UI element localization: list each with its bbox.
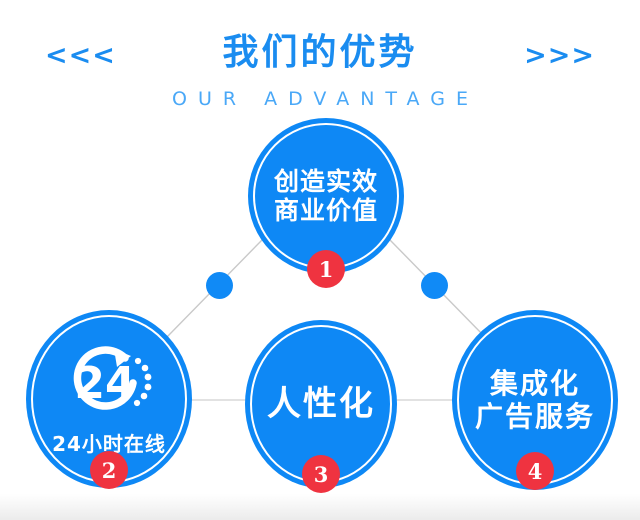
step-badge-2: 2 — [90, 451, 128, 489]
advantage-infographic: <<< 我们的优势 >>> OUR ADVANTAGE 创造实效 商业价值 — [0, 0, 640, 520]
page-title: 我们的优势 — [222, 35, 417, 71]
24-hour-clock-icon: 24 — [59, 341, 159, 427]
step-badge-1: 1 — [307, 250, 345, 288]
page-subtitle: OUR ADVANTAGE — [0, 88, 640, 110]
advantage-node-1-label: 创造实效 商业价值 — [274, 167, 378, 226]
connector-dot-left — [206, 272, 233, 299]
advantage-node-4-label: 集成化 广告服务 — [475, 367, 595, 433]
node-4-line-1: 集成化 — [475, 367, 595, 400]
step-badge-4: 4 — [516, 452, 554, 490]
chevron-left-icon: <<< — [45, 42, 116, 69]
node-3-line-1: 人性化 — [267, 384, 375, 424]
advantage-node-3-label: 人性化 — [267, 384, 375, 424]
header: <<< 我们的优势 >>> OUR ADVANTAGE — [0, 30, 640, 110]
connector-dot-right — [421, 272, 448, 299]
svg-text:24: 24 — [74, 358, 135, 409]
step-badge-3: 3 — [302, 455, 340, 493]
node-1-line-2: 商业价值 — [274, 196, 378, 226]
chevron-right-icon: >>> — [524, 42, 595, 69]
title-row: <<< 我们的优势 >>> — [0, 30, 640, 76]
node-4-line-2: 广告服务 — [475, 400, 595, 433]
node-1-line-1: 创造实效 — [274, 167, 378, 197]
